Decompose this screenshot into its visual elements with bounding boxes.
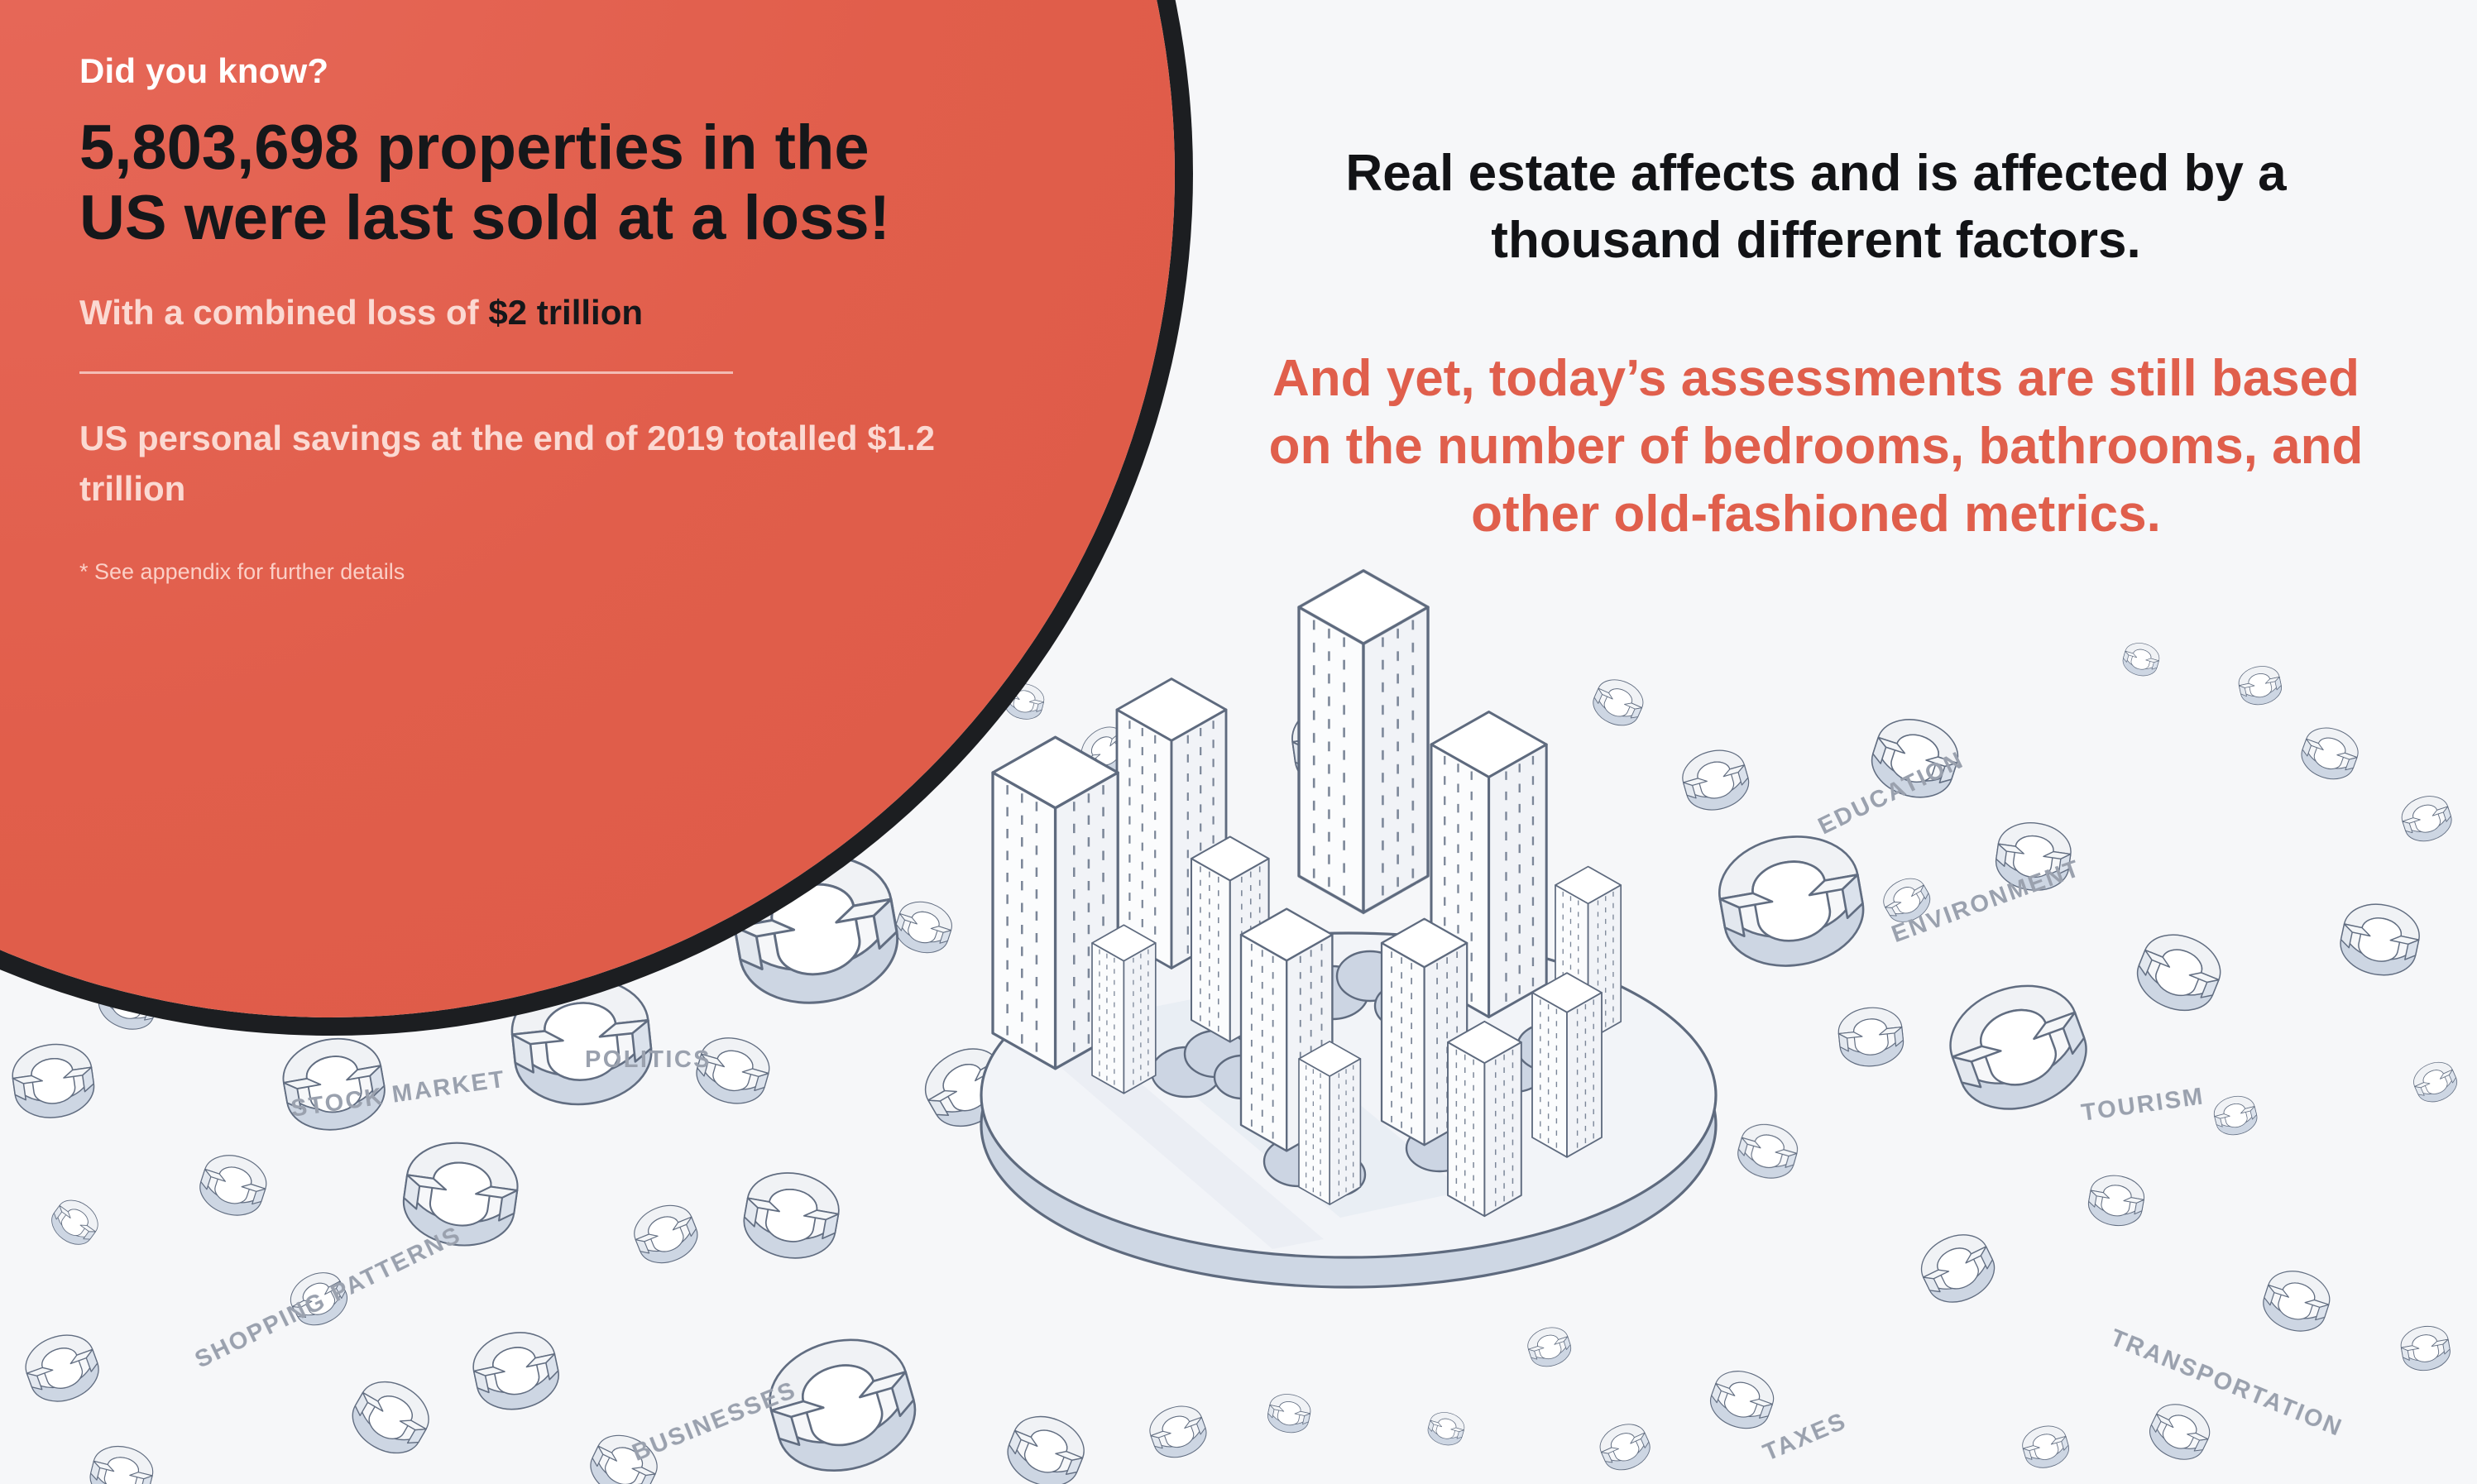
infographic-slide: CRIME HEALTHCARE POLITICS STOCK MARKET S…: [0, 0, 2477, 1484]
callout-note: US personal savings at the end of 2019 t…: [79, 414, 973, 515]
field-label: POLITICS: [585, 1046, 711, 1074]
right-copy-block: Real estate affects and is affected by a…: [1266, 141, 2366, 548]
callout-subline-accent: $2 trillion: [488, 293, 643, 332]
statement-accent: And yet, today’s assessments are still b…: [1266, 345, 2366, 548]
statement-primary: Real estate affects and is affected by a…: [1266, 141, 2366, 274]
callout-subline-prefix: With a combined loss of: [79, 293, 488, 332]
callout-kicker: Did you know?: [79, 51, 973, 91]
callout-divider: [79, 371, 733, 374]
callout-headline: 5,803,698 properties in the US were last…: [79, 112, 973, 253]
callout-footnote: * See appendix for further details: [79, 558, 973, 586]
callout-content: Did you know? 5,803,698 properties in th…: [79, 51, 973, 586]
callout-subline: With a combined loss of $2 trillion: [79, 290, 973, 336]
